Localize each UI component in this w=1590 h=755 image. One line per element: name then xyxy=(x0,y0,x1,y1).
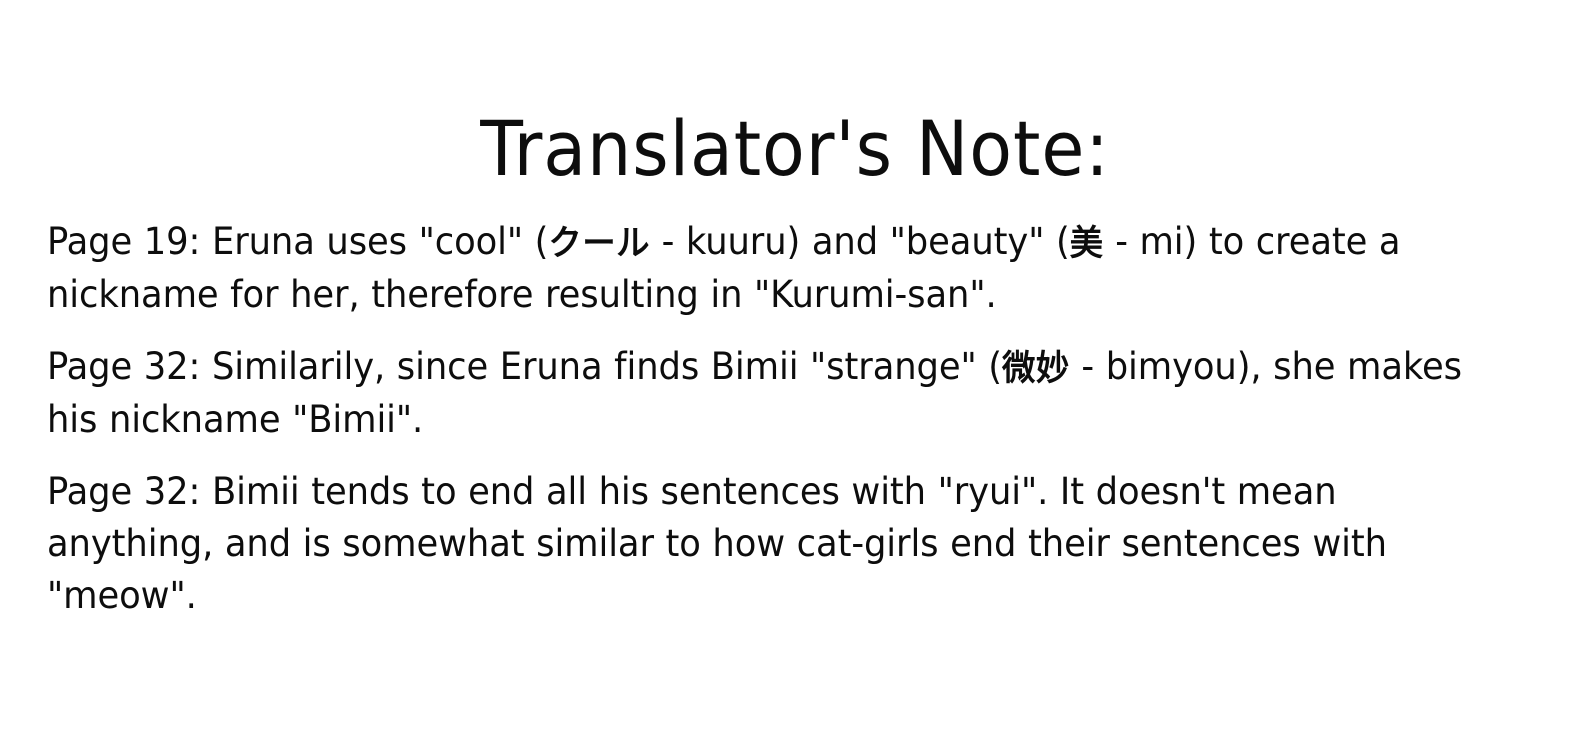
cjk-term: 美 xyxy=(1070,218,1104,270)
cjk-term: 微妙 xyxy=(1002,343,1070,395)
translator-note-page: Translator's Note: Page 19: Eruna uses "… xyxy=(0,0,1590,755)
cjk-term: クール xyxy=(548,218,650,270)
notes-list: Page 19: Eruna uses "cool" (クール - kuuru)… xyxy=(47,216,1557,622)
note-paragraph-page-32-a: Page 32: Similarily, since Eruna finds B… xyxy=(47,341,1489,446)
note-paragraph-page-32-b: Page 32: Bimii tends to end all his sent… xyxy=(47,466,1489,622)
page-title: Translator's Note: xyxy=(64,103,1527,195)
note-paragraph-page-19: Page 19: Eruna uses "cool" (クール - kuuru)… xyxy=(47,216,1489,321)
